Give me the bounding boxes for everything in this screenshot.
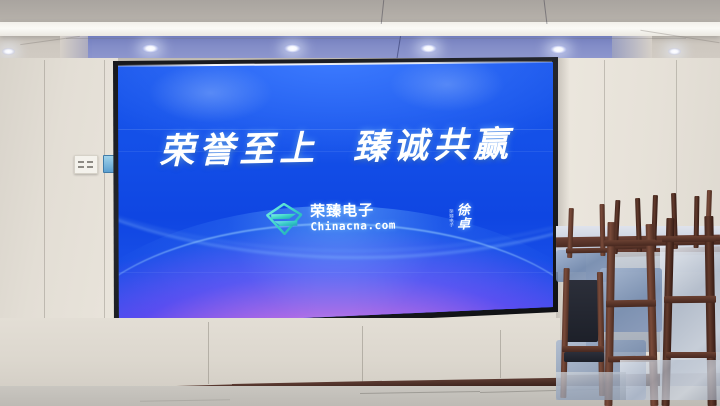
logo-text-block: 荣臻电子 Chinacna.com (310, 203, 396, 233)
outlet-slot (87, 166, 93, 168)
recessed-downlight (550, 45, 567, 54)
double-arrow-diamond-logo-icon (266, 203, 303, 236)
power-outlet-plate[interactable] (74, 155, 98, 174)
ceiling-light-cove-band (0, 22, 720, 36)
plastic-dust-cover (556, 372, 626, 400)
cabinet-seam (362, 326, 363, 382)
calligraphy-signature: 荣臻电子 徐卓 (448, 203, 469, 231)
logo-company-name: 荣臻电子 (310, 203, 396, 220)
ceiling (0, 0, 720, 62)
outlet-slot (78, 161, 84, 163)
calligraphy-main-text: 徐卓 (455, 203, 469, 231)
slogan-row: 荣誉至上 臻诚共赢 (158, 116, 513, 174)
recessed-downlight (2, 48, 15, 55)
display-screen[interactable]: 荣誉至上 臻诚共赢 (112, 57, 559, 333)
recessed-downlight (142, 44, 159, 53)
plastic-dust-cover (620, 360, 720, 400)
recessed-downlight (420, 44, 437, 53)
calligraphy-small-text: 荣臻电子 (448, 209, 453, 227)
company-logo: 荣臻电子 Chinacna.com (266, 201, 396, 236)
lower-wall-cabinet (0, 318, 560, 388)
slogan-right-text: 臻诚共赢 (352, 116, 513, 170)
outlet-slot (78, 166, 84, 168)
slogan-left-text: 荣誉至上 (158, 120, 319, 174)
cabinet-seam (208, 322, 209, 384)
cabinet-seam (500, 330, 501, 378)
room-photo-scene: 荣誉至上 臻诚共赢 (0, 0, 720, 406)
outlet-slot (87, 161, 93, 163)
ceiling-seam (66, 38, 686, 39)
recessed-downlight (284, 44, 301, 53)
recessed-downlight (668, 48, 681, 55)
led-video-wall[interactable]: 荣誉至上 臻诚共赢 (112, 57, 559, 333)
slogan-layer: 荣誉至上 臻诚共赢 (112, 57, 559, 333)
logo-website: Chinacna.com (310, 220, 396, 233)
